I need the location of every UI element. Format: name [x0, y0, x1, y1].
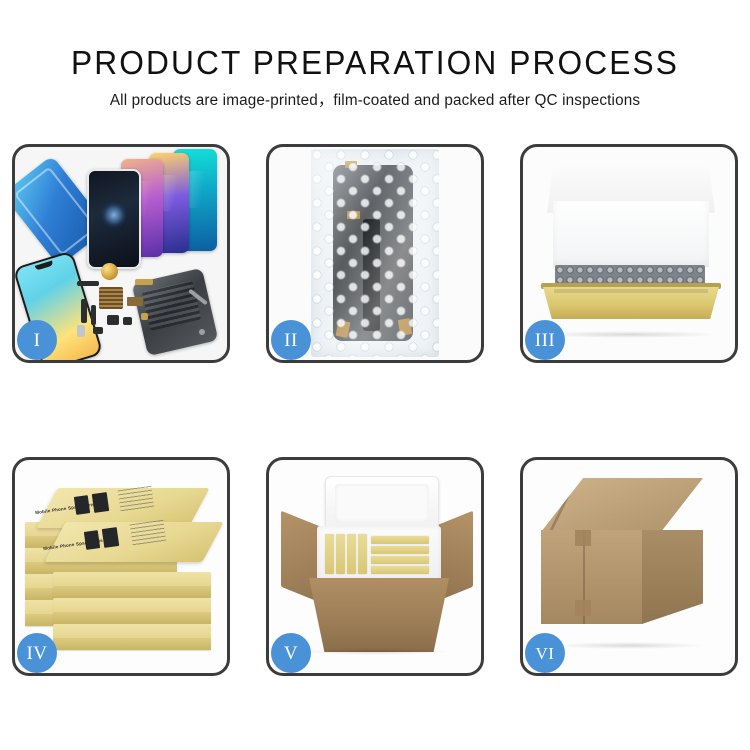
screw-part: [199, 329, 205, 335]
label-thumbnail: [92, 492, 109, 513]
drop-shadow: [554, 642, 704, 649]
label-thumbnail: [74, 495, 90, 515]
spare-part: [107, 315, 119, 325]
label-text-lines: [130, 520, 167, 547]
carton-side-face: [642, 530, 703, 624]
carton-front-face: [541, 530, 642, 624]
header: PRODUCT PREPARATION PROCESS All products…: [0, 0, 750, 110]
step-6-badge: VI: [525, 633, 565, 673]
chip-part: [99, 287, 123, 309]
carton-tape: [575, 530, 591, 546]
step-3-numeral: III: [535, 331, 555, 350]
step-4-numeral: IV: [26, 644, 47, 663]
spare-part: [91, 305, 96, 325]
label-thumbnail: [84, 530, 100, 550]
foam-lid: [325, 476, 439, 530]
bubble-wrap-bag: [311, 149, 439, 357]
page-title: PRODUCT PREPARATION PROCESS: [15, 0, 735, 82]
step-3-badge: III: [525, 320, 565, 360]
process-step-grid: I II: [12, 144, 738, 730]
spare-part: [135, 279, 153, 285]
process-step-3[interactable]: III: [520, 144, 738, 363]
label-text-lines: [118, 486, 155, 513]
product-preparation-infographic: PRODUCT PREPARATION PROCESS All products…: [0, 0, 750, 750]
process-step-1[interactable]: I: [12, 144, 230, 363]
spare-part: [127, 297, 143, 306]
step-5-numeral: V: [284, 644, 298, 663]
label-thumbnail: [102, 527, 119, 548]
drop-shadow: [539, 331, 719, 338]
process-step-4[interactable]: Mobile Phone Spare Parts Mobile Phone Sp…: [12, 457, 230, 676]
box-stack: Mobile Phone Spare Parts Mobile Phone Sp…: [23, 476, 223, 660]
step-4-badge: IV: [17, 633, 57, 673]
carton-tape: [575, 600, 591, 616]
step-1-badge: I: [17, 320, 57, 360]
step-2-numeral: II: [284, 331, 298, 350]
process-step-6[interactable]: VI: [520, 457, 738, 676]
process-step-2[interactable]: II: [266, 144, 484, 363]
spare-part: [93, 327, 103, 334]
drop-shadow: [300, 648, 450, 655]
plastic-sheen: [311, 149, 439, 357]
page-subtitle: All products are image-printed，film-coat…: [6, 82, 745, 110]
spare-part: [77, 325, 85, 337]
carton-top-face: [541, 478, 703, 532]
screen-protector-graphic: [87, 169, 141, 269]
vibration-motor-part: [101, 263, 118, 280]
spare-part: [123, 317, 132, 325]
spare-part: [141, 313, 148, 320]
step-1-numeral: I: [34, 331, 41, 350]
step-5-badge: V: [271, 633, 311, 673]
spare-part: [81, 299, 87, 323]
spare-part: [77, 281, 99, 286]
step-6-numeral: VI: [536, 644, 555, 663]
corrugated-carton-body: [309, 578, 449, 652]
process-step-5[interactable]: V: [266, 457, 484, 676]
kraft-box-tray: [543, 287, 719, 319]
step-2-badge: II: [271, 320, 311, 360]
foam-liner: [317, 526, 441, 584]
box-liner-graphic: [553, 201, 709, 267]
